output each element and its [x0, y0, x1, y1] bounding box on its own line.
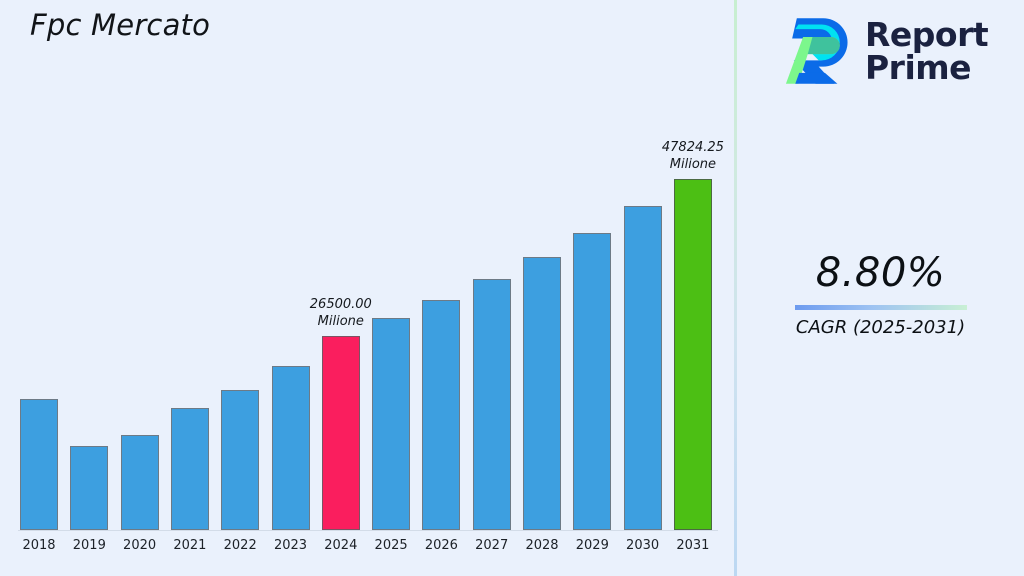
bar-2018 — [20, 399, 58, 530]
report-prime-logo-icon — [775, 12, 853, 90]
x-axis-tick-2029: 2029 — [567, 538, 617, 553]
x-axis-tick-2018: 2018 — [14, 538, 64, 553]
brand-logo: Report Prime — [775, 12, 988, 90]
brand-name-line1: Report — [865, 18, 988, 51]
x-axis-tick-2028: 2028 — [517, 538, 567, 553]
bar-2019 — [70, 446, 108, 530]
brand-name-line2: Prime — [865, 51, 988, 84]
x-axis-tick-2026: 2026 — [416, 538, 466, 553]
x-axis-tick-2019: 2019 — [64, 538, 114, 553]
x-axis-tick-2020: 2020 — [115, 538, 165, 553]
bar-2022 — [221, 390, 259, 530]
x-axis-tick-2030: 2030 — [618, 538, 668, 553]
bar-value-amount-2024: 26500.00 — [281, 296, 401, 313]
infographic-page: Fpc Mercato 2018201920202021202220232024… — [0, 0, 1024, 576]
bar-2025 — [372, 318, 410, 530]
bar-2024 — [322, 336, 360, 530]
x-axis-tick-2022: 2022 — [215, 538, 265, 553]
bar-2028 — [523, 257, 561, 530]
x-axis-tick-2027: 2027 — [467, 538, 517, 553]
bar-2029 — [573, 233, 611, 530]
x-axis-tick-2023: 2023 — [266, 538, 316, 553]
bar-2030 — [624, 206, 662, 530]
chart-panel: Fpc Mercato 2018201920202021202220232024… — [0, 0, 735, 576]
bar-2023 — [272, 366, 310, 530]
x-axis-tick-2025: 2025 — [366, 538, 416, 553]
bar-chart-plot: 201820192020202120222023202426500.00Mili… — [0, 0, 735, 576]
brand-panel: Report Prime 8.80% CAGR (2025-2031) — [737, 0, 1024, 576]
x-axis-tick-2031: 2031 — [668, 538, 718, 553]
brand-name: Report Prime — [865, 18, 988, 84]
cagr-label: CAGR (2025-2031) — [737, 317, 1024, 338]
x-axis-tick-2021: 2021 — [165, 538, 215, 553]
bar-2021 — [171, 408, 209, 530]
cagr-value: 8.80% — [737, 250, 1024, 296]
bar-2020 — [121, 435, 159, 530]
bar-2026 — [422, 300, 460, 530]
cagr-block: 8.80% CAGR (2025-2031) — [737, 250, 1024, 338]
bar-2031 — [674, 179, 712, 530]
bar-2027 — [473, 279, 511, 530]
x-axis-line — [18, 530, 718, 531]
x-axis-tick-2024: 2024 — [316, 538, 366, 553]
cagr-divider-rule — [795, 305, 967, 310]
